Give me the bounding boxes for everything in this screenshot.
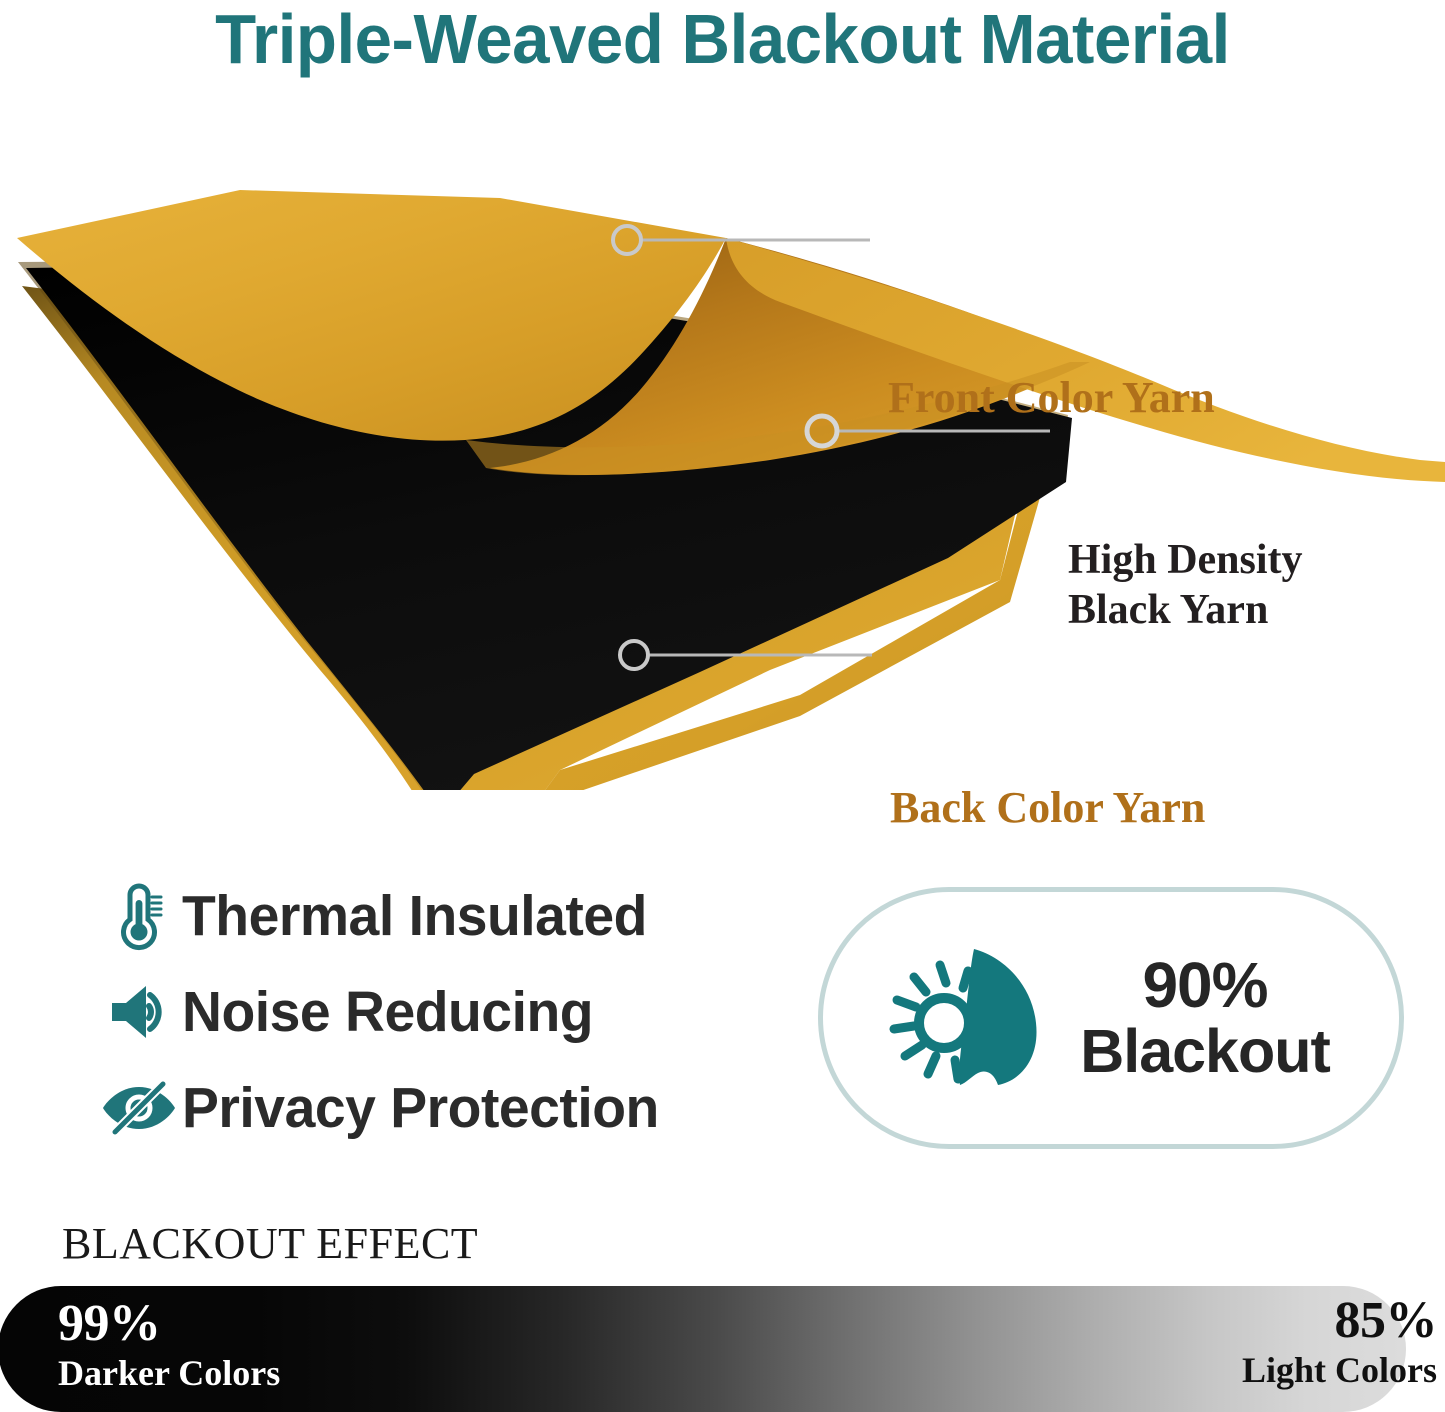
layers-illustration [0, 150, 1445, 790]
page-title: Triple-Weaved Blackout Material [29, 0, 1416, 82]
darker-colors-percent: 99% [58, 1296, 280, 1352]
darker-colors-label: Darker Colors [58, 1352, 280, 1394]
blackout-percent-word: Blackout [1080, 1018, 1330, 1084]
light-colors-percent: 85% [1242, 1293, 1437, 1349]
blackout-percent-value: 90% [1080, 952, 1330, 1018]
callout-label-line-2: Black Yarn [1068, 585, 1303, 635]
feature-label-thermal-insulated: Thermal Insulated [182, 885, 647, 947]
light-colors-label: Light Colors [1242, 1349, 1437, 1391]
blackout-effect-light-colors: 85% Light Colors [1242, 1293, 1437, 1391]
callout-label-line-1: High Density [1068, 535, 1303, 585]
feature-item-thermal-insulated: Thermal Insulated [96, 872, 776, 960]
blackout-badge-text: 90% Blackout [1080, 952, 1330, 1084]
feature-label-privacy-protection: Privacy Protection [182, 1077, 659, 1139]
callout-label-high-density-black-yarn: High Density Black Yarn [1068, 535, 1303, 635]
eye-slash-icon [96, 1079, 182, 1137]
callout-label-back-color-yarn: Back Color Yarn [890, 782, 1205, 834]
feature-item-privacy-protection: Privacy Protection [96, 1064, 776, 1152]
material-layers-diagram: Front Color Yarn High Density Black Yarn… [0, 150, 1445, 790]
feature-list: Thermal Insulated Noise Reducing Privacy… [96, 872, 776, 1160]
blackout-percentage-badge: 90% Blackout [818, 887, 1404, 1149]
callout-label-front-color-yarn: Front Color Yarn [888, 372, 1215, 424]
blackout-effect-darker-colors: 99% Darker Colors [58, 1296, 280, 1394]
blackout-effect-heading: BLACKOUT EFFECT [62, 1218, 478, 1270]
thermometer-icon [96, 880, 182, 952]
feature-label-noise-reducing: Noise Reducing [182, 981, 593, 1043]
speaker-icon [96, 981, 182, 1043]
feature-item-noise-reducing: Noise Reducing [96, 968, 776, 1056]
sun-behind-curtain-icon [886, 943, 1046, 1094]
